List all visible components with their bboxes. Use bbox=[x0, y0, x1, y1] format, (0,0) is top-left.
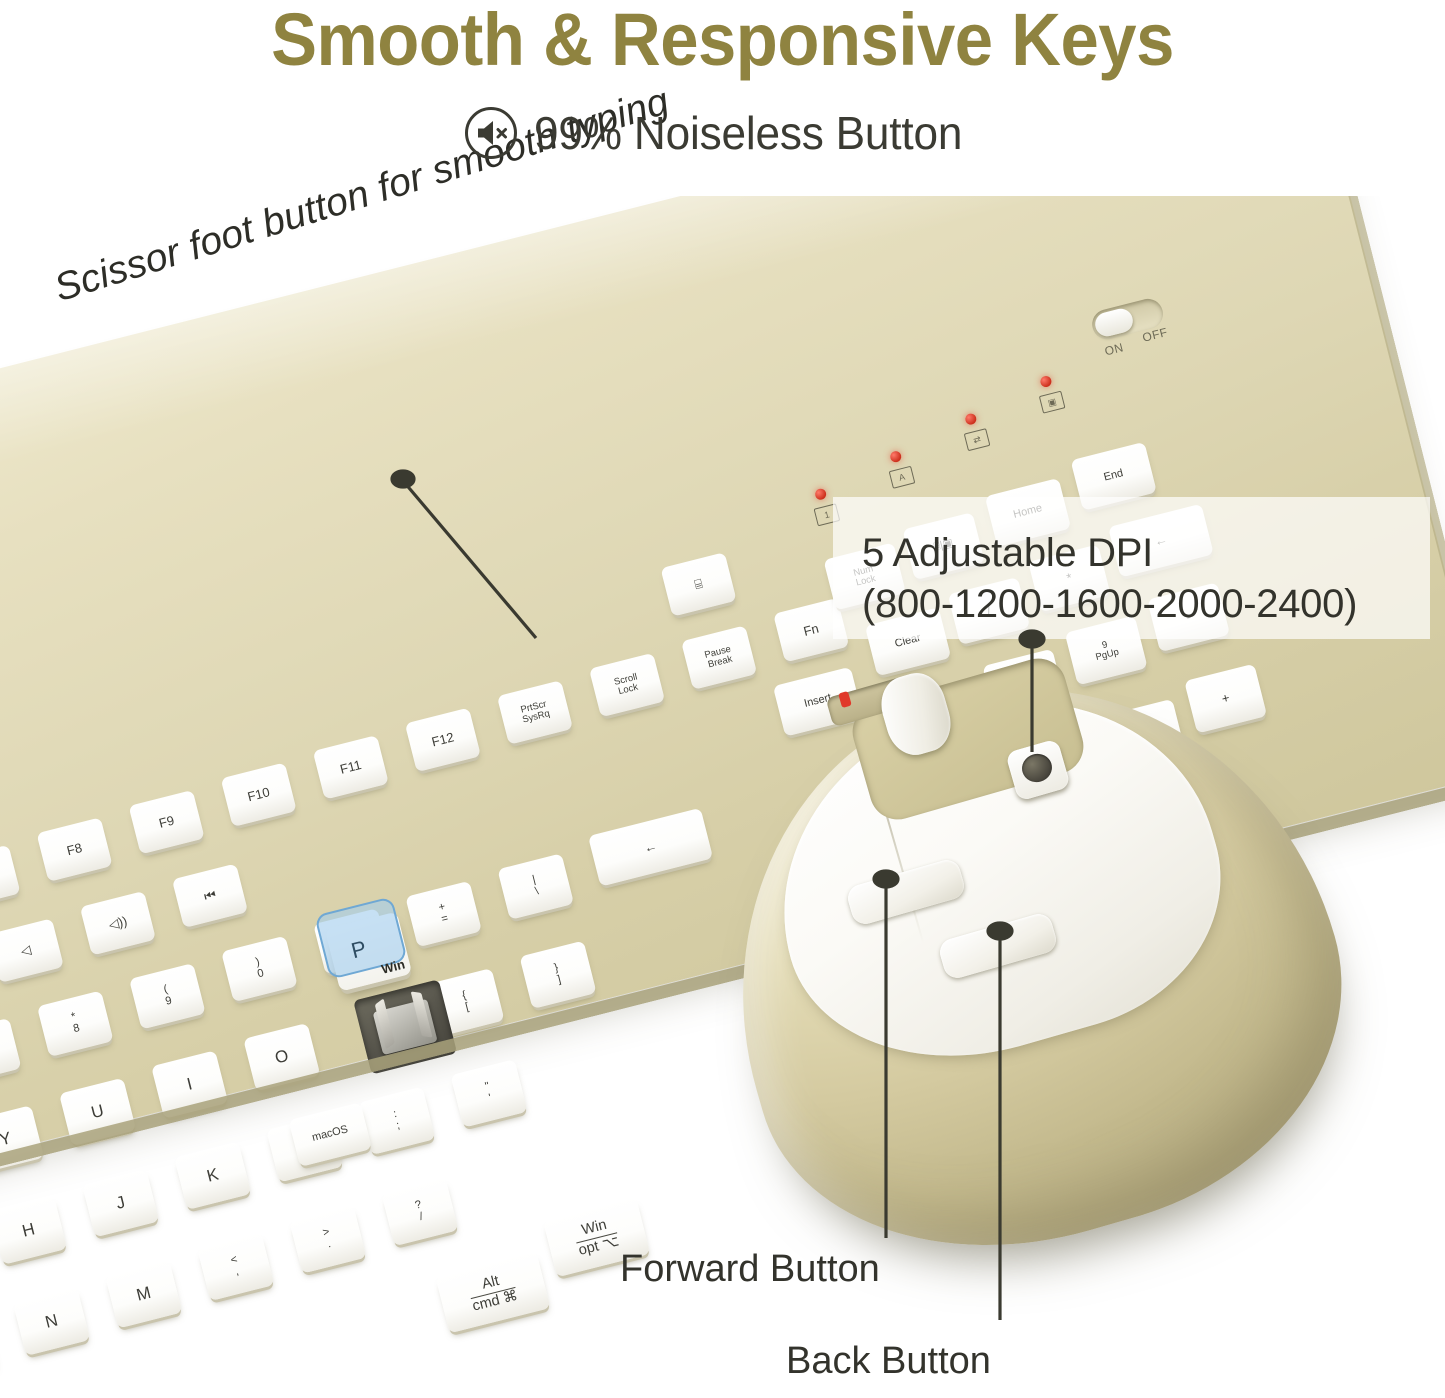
key-label-bottom: cmd ⌘ bbox=[470, 1286, 519, 1314]
key-label: <, bbox=[230, 1255, 242, 1279]
subtitle-row: 99% Noiseless Button bbox=[0, 106, 1445, 160]
product-marketing-image: Smooth & Responsive Keys 99% Noiseless B… bbox=[0, 0, 1445, 1398]
header-block: Smooth & Responsive Keys 99% Noiseless B… bbox=[0, 0, 1445, 200]
key-kh[interactable]: H bbox=[0, 1196, 67, 1265]
key-altcmd[interactable]: Altcmd ⌘ bbox=[435, 1252, 550, 1334]
key-label: ?/ bbox=[414, 1200, 426, 1224]
key-label: :; bbox=[393, 1109, 402, 1132]
dpi-callout-text: 5 Adjustable DPI (800-1200-1600-2000-240… bbox=[862, 528, 1432, 630]
key-label: "' bbox=[484, 1082, 494, 1106]
key-label: M bbox=[135, 1284, 153, 1305]
key-kquote[interactable]: "' bbox=[450, 1059, 527, 1128]
key-label: N bbox=[44, 1312, 60, 1332]
key-km[interactable]: M bbox=[105, 1260, 182, 1329]
page-title: Smooth & Responsive Keys bbox=[51, 2, 1395, 79]
key-label-part: , bbox=[233, 1266, 242, 1279]
dpi-line-2: (800-1200-1600-2000-2400) bbox=[862, 579, 1432, 630]
subtitle-text: 99% Noiseless Button bbox=[534, 106, 962, 160]
key-label: macOS bbox=[311, 1125, 349, 1145]
key-kperiod[interactable]: >. bbox=[289, 1205, 366, 1274]
key-kj[interactable]: J bbox=[82, 1169, 159, 1238]
key-label: J bbox=[114, 1193, 127, 1212]
key-kcomma[interactable]: <, bbox=[197, 1233, 274, 1302]
key-label-part: ; bbox=[395, 1120, 401, 1132]
speaker-mute-icon bbox=[464, 106, 518, 160]
key-kslash[interactable]: ?/ bbox=[381, 1178, 458, 1247]
label-forward-button: Forward Button bbox=[620, 1248, 880, 1291]
key-label: K bbox=[205, 1166, 220, 1186]
key-label-part: . bbox=[325, 1239, 334, 1252]
key-macos[interactable]: macOS bbox=[289, 1102, 373, 1167]
key-kn[interactable]: N bbox=[13, 1287, 90, 1356]
key-label: H bbox=[20, 1220, 36, 1240]
dpi-line-1: 5 Adjustable DPI bbox=[862, 531, 1153, 575]
label-back-button: Back Button bbox=[786, 1340, 991, 1383]
key-label: >. bbox=[322, 1227, 334, 1251]
product-photo: 1 A ⇄ ▣ ON OFF F5F6F7F8F9F10F11F12PrtScr… bbox=[0, 196, 1445, 1398]
key-label-part: / bbox=[417, 1211, 426, 1224]
key-kk[interactable]: K bbox=[174, 1141, 251, 1210]
wireless-mouse bbox=[732, 664, 1342, 1244]
key-label-part: ' bbox=[487, 1093, 494, 1105]
